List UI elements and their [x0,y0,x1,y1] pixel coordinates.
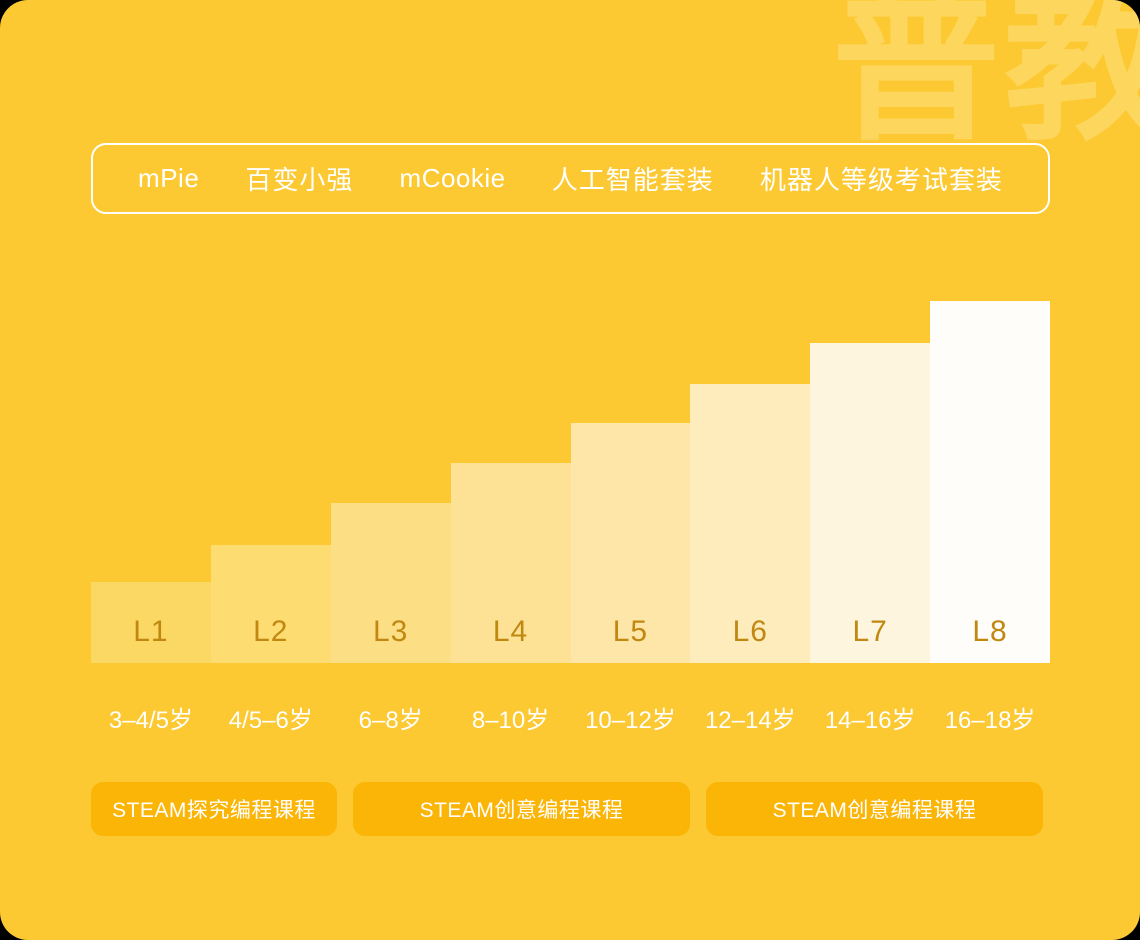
levels-bar-chart: L1L2L3L4L5L6L7L8 [91,290,1050,663]
product-nav-bar: mPie百变小强mCookie人工智能套装机器人等级考试套装 [91,143,1050,214]
course-button-row: STEAM探究编程课程STEAM创意编程课程STEAM创意编程课程 [91,782,1050,836]
bar-l7[interactable]: L7 [810,343,930,663]
nav-item-2[interactable]: 百变小强 [245,160,353,197]
bar-label-l4: L4 [451,615,571,649]
bar-label-l3: L3 [331,615,451,649]
age-label-l2: 4/5–6岁 [211,700,331,738]
bar-label-l5: L5 [571,615,691,649]
bar-l2[interactable]: L2 [211,545,331,663]
bar-label-l8: L8 [930,615,1050,649]
nav-item-3[interactable]: mCookie [400,163,506,194]
age-label-l7: 14–16岁 [810,700,930,738]
course-button-3[interactable]: STEAM创意编程课程 [706,782,1043,836]
course-button-2[interactable]: STEAM创意编程课程 [353,782,690,836]
bar-l4[interactable]: L4 [451,463,571,663]
nav-item-1[interactable]: mPie [138,163,199,194]
bar-label-l7: L7 [810,615,930,649]
bar-l5[interactable]: L5 [571,423,691,663]
age-label-l6: 12–14岁 [690,700,810,738]
page-root: 普教 mPie百变小强mCookie人工智能套装机器人等级考试套装 L1L2L3… [0,0,1140,940]
course-button-1[interactable]: STEAM探究编程课程 [91,782,337,836]
age-label-l1: 3–4/5岁 [91,700,211,738]
watermark-text: 普教 [832,0,1140,150]
bar-label-l6: L6 [690,615,810,649]
bar-label-l2: L2 [211,615,331,649]
nav-item-5[interactable]: 机器人等级考试套装 [760,160,1003,197]
age-label-l5: 10–12岁 [571,700,691,738]
nav-item-4[interactable]: 人工智能套装 [552,160,714,197]
age-label-l4: 8–10岁 [451,700,571,738]
bar-l1[interactable]: L1 [91,582,211,663]
age-label-l8: 16–18岁 [930,700,1050,738]
bar-l8[interactable]: L8 [930,301,1050,663]
bar-label-l1: L1 [91,615,211,649]
bar-l3[interactable]: L3 [331,503,451,663]
age-range-label-row: 3–4/5岁4/5–6岁6–8岁8–10岁10–12岁12–14岁14–16岁1… [91,700,1050,738]
age-label-l3: 6–8岁 [331,700,451,738]
bar-l6[interactable]: L6 [690,384,810,663]
